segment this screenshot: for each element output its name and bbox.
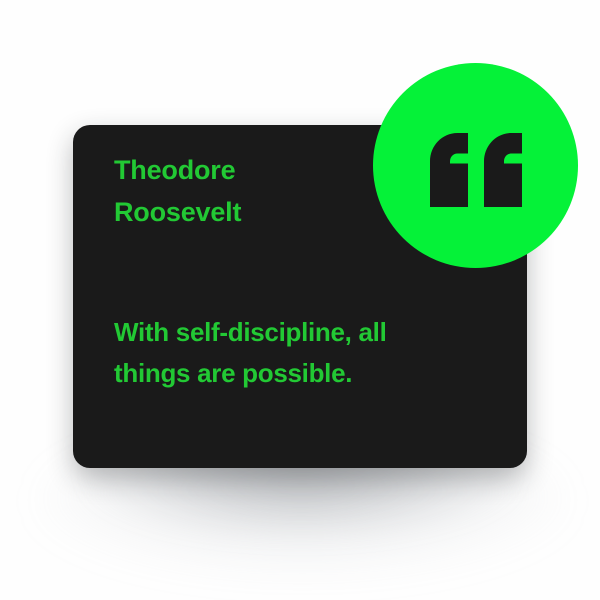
quote-card-stage: Theodore Roosevelt With self-discipline,… <box>0 0 600 600</box>
double-quote-icon <box>430 125 522 207</box>
quote-body-text: With self-discipline, all things are pos… <box>114 312 464 394</box>
quote-badge-circle <box>373 63 578 268</box>
quote-author: Theodore Roosevelt <box>114 149 374 233</box>
